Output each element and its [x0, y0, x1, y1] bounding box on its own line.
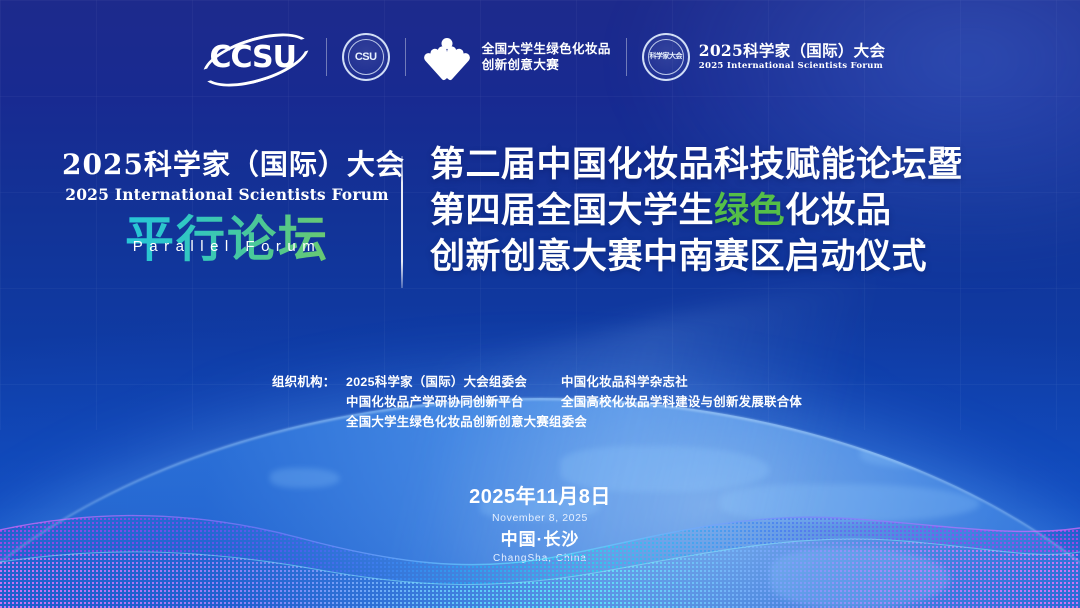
organizers-label-spacer	[272, 392, 346, 412]
organizer-col1-item-2: 中国化妆品产学研协同创新平台	[346, 392, 561, 412]
forum-title-left: 2025科学家（国际）大会 2025 International Scienti…	[62, 146, 392, 270]
event-title-line-3: 创新创意大赛中南赛区启动仪式	[430, 234, 1060, 280]
organizer-col1-item-3: 全国大学生绿色化妆品创新创意大赛组委会	[346, 412, 587, 432]
contest-logo-line1: 全国大学生绿色化妆品	[482, 41, 611, 57]
organizers-block: 组织机构： 2025科学家（国际）大会组委会 中国化妆品科学杂志社 中国化妆品产…	[272, 372, 832, 432]
ccsu-wordmark-text: CCSU	[195, 34, 311, 80]
particle-wave-decoration	[0, 478, 1080, 608]
forum-logo-en: 2025 International Scientists Forum	[699, 60, 886, 72]
organizer-row: 组织机构： 2025科学家（国际）大会组委会 中国化妆品科学杂志社	[272, 372, 832, 392]
event-title-line-2-green: 绿色	[714, 191, 785, 230]
ccsu-logo: CCSU	[180, 34, 326, 80]
forum-title-cn: 2025科学家（国际）大会	[62, 146, 392, 184]
forum-logo-text: 2025科学家（国际）大会 2025 International Scienti…	[699, 42, 886, 72]
green-cosmetics-contest-logo: 全国大学生绿色化妆品 创新创意大赛	[406, 36, 626, 78]
event-title-line-2: 第四届全国大学生绿色化妆品	[430, 188, 1060, 234]
scientists-forum-logo: 科学家大会 2025科学家（国际）大会 2025 International S…	[627, 33, 901, 81]
event-title-line-2a: 第四届全国大学生	[430, 191, 714, 230]
contest-logo-text: 全国大学生绿色化妆品 创新创意大赛	[482, 41, 611, 73]
headline-block: 2025科学家（国际）大会 2025 International Scienti…	[0, 146, 1080, 296]
particle-wave-svg	[0, 478, 1080, 608]
organizers-label: 组织机构：	[272, 372, 346, 392]
organizer-col2-item-2: 全国高校化妆品学科建设与创新发展联合体	[561, 392, 832, 412]
event-title-line-2b: 化妆品	[785, 191, 892, 230]
ccsu-wordmark-icon: CCSU	[195, 34, 311, 80]
forum-logo-cn: 2025科学家（国际）大会	[699, 42, 886, 60]
organizer-col1-item-1: 2025科学家（国际）大会组委会	[346, 372, 561, 392]
contest-logo-line2: 创新创意大赛	[482, 57, 611, 73]
parallel-forum-wordmark: 平行论坛 Parallel Forum	[62, 212, 392, 270]
organizers-label-spacer	[272, 412, 346, 432]
parallel-forum-en: Parallel Forum	[62, 238, 392, 255]
seal-monogram: CSU	[344, 35, 388, 79]
headline-divider	[401, 156, 403, 288]
partner-logo-bar: CCSU CSU 全国大学生绿色化妆品 创新创意大赛	[0, 26, 1080, 88]
seal-monogram: 科学家大会	[644, 35, 688, 79]
circular-seal-icon: CSU	[342, 33, 390, 81]
event-title-right: 第二届中国化妆品科技赋能论坛暨 第四届全国大学生绿色化妆品 创新创意大赛中南赛区…	[430, 142, 1060, 280]
forum-title-en: 2025 International Scientists Forum	[62, 184, 392, 206]
organizer-row: 全国大学生绿色化妆品创新创意大赛组委会	[272, 412, 832, 432]
organizer-row: 中国化妆品产学研协同创新平台 全国高校化妆品学科建设与创新发展联合体	[272, 392, 832, 412]
conference-poster: CCSU CSU 全国大学生绿色化妆品 创新创意大赛	[0, 0, 1080, 608]
event-title-line-1: 第二届中国化妆品科技赋能论坛暨	[430, 142, 1060, 188]
organizer-col2-item-1: 中国化妆品科学杂志社	[561, 372, 832, 392]
circular-seal-icon: 科学家大会	[642, 33, 690, 81]
fan-bird-icon	[421, 36, 473, 78]
university-seal-logo: CSU	[327, 33, 405, 81]
